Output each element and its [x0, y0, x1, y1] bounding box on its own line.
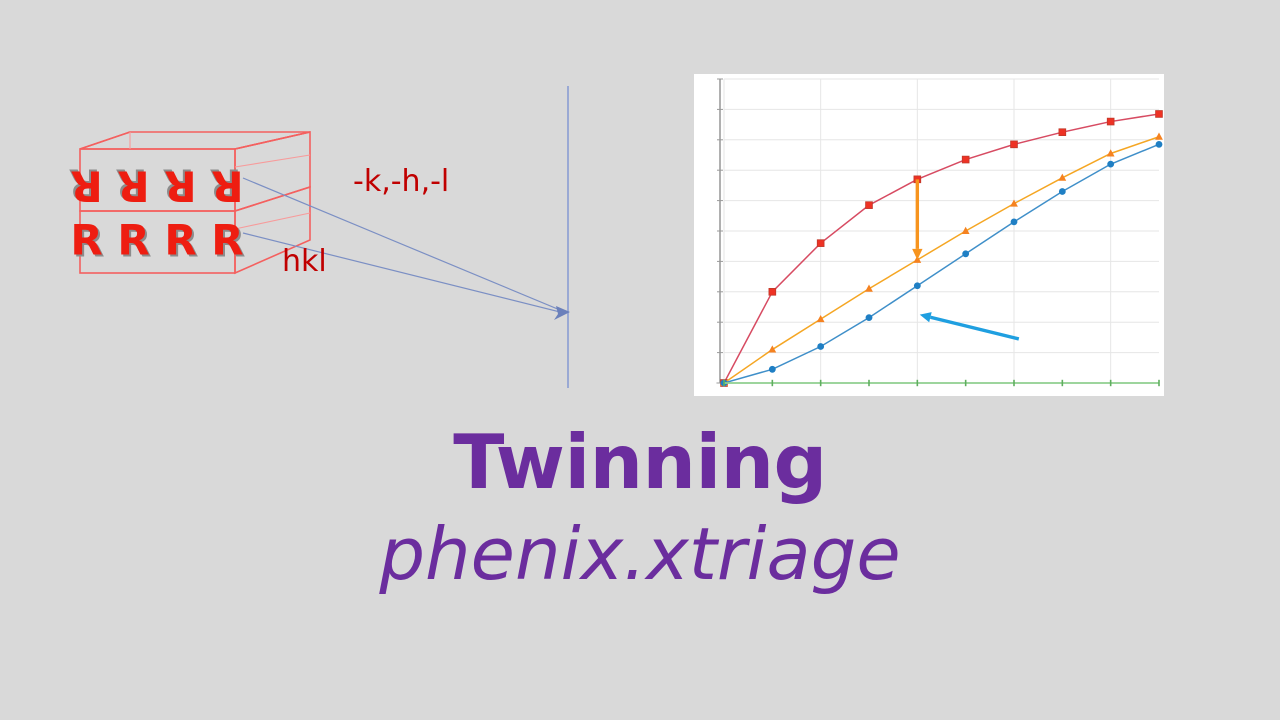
data-point-square [1107, 118, 1114, 125]
detector-divider-line [540, 70, 610, 410]
data-point-square [769, 288, 776, 295]
data-point-circle [914, 282, 921, 289]
title-block: Twinning phenix.xtriage [0, 425, 1280, 590]
twin-domain-upper-letters: R R R R R R R R [68, 160, 243, 211]
page-title: Twinning [0, 425, 1280, 500]
data-point-square [1011, 141, 1018, 148]
reflection-label-lower: hkl [282, 244, 327, 279]
data-point-square [962, 156, 969, 163]
page-subtitle: phenix.xtriage [0, 518, 1280, 590]
data-point-square [1156, 111, 1163, 118]
data-point-circle [1156, 141, 1163, 148]
data-point-circle [962, 250, 969, 257]
slide-canvas: R R R R R R R R R R R R R R R R -k,-h,-l… [0, 0, 1280, 720]
chart-svg [694, 74, 1164, 396]
plot-background [694, 74, 1164, 396]
data-point-circle [1059, 188, 1066, 195]
data-point-circle [769, 366, 776, 373]
data-point-square [866, 202, 873, 209]
data-point-circle [866, 314, 873, 321]
twin-crystal-lattice-diagram: R R R R R R R R R R R R R R R R -k,-h,-l… [60, 125, 560, 325]
reflection-label-upper: -k,-h,-l [353, 164, 449, 199]
data-point-circle [817, 343, 824, 350]
data-point-circle [1011, 218, 1018, 225]
data-point-square [1059, 129, 1066, 136]
twinning-intensity-plot [694, 74, 1164, 396]
twin-domain-lower-letters: R R R R R R R R [70, 216, 245, 267]
data-point-circle [1107, 161, 1114, 168]
lower-domain-letters: R R R R [70, 216, 243, 265]
data-point-square [817, 240, 824, 247]
upper-domain-letters: R R R R [70, 162, 243, 211]
